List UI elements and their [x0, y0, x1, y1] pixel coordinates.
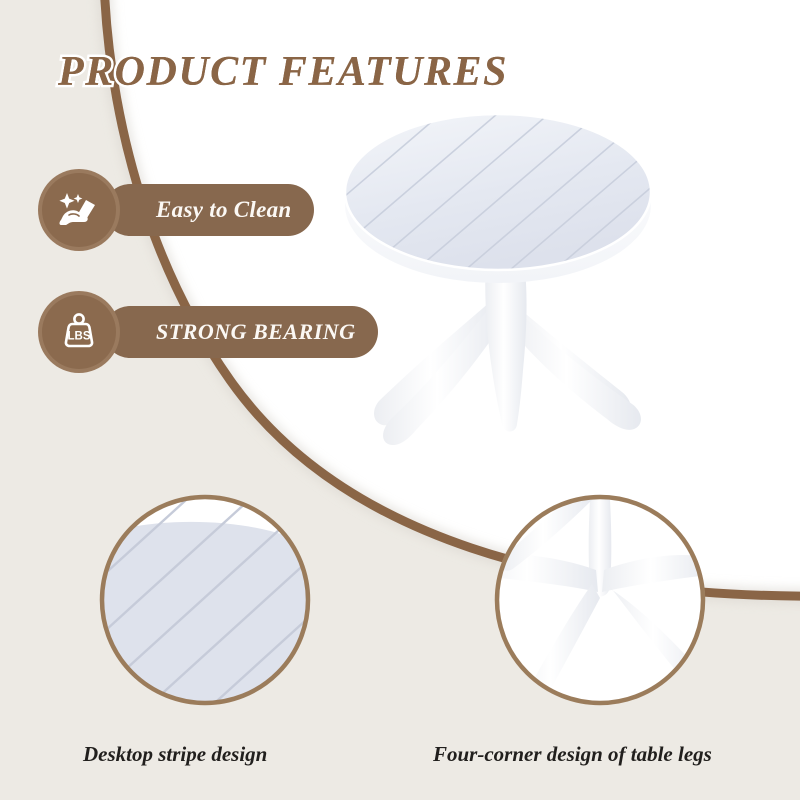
- feature-pill: STRONG BEARING: [104, 306, 378, 358]
- feature-label: Easy to Clean: [156, 197, 292, 223]
- sparkle-cloth-cleaning-icon: [42, 173, 116, 247]
- product-features-infographic: PRODUCT FEATURES PRODUCT FEATURES Easy t…: [0, 0, 800, 800]
- detail-caption-stripes: Desktop stripe design: [83, 742, 267, 767]
- background-illustration: [0, 0, 800, 800]
- detail-caption-legs: Four-corner design of table legs: [433, 742, 712, 767]
- weight-lbs-icon: LBS: [42, 295, 116, 369]
- feature-pill: Easy to Clean: [104, 184, 314, 236]
- feature-label: STRONG BEARING: [156, 319, 356, 345]
- page-title: PRODUCT FEATURES: [58, 48, 508, 96]
- weight-icon-text: LBS: [68, 331, 91, 343]
